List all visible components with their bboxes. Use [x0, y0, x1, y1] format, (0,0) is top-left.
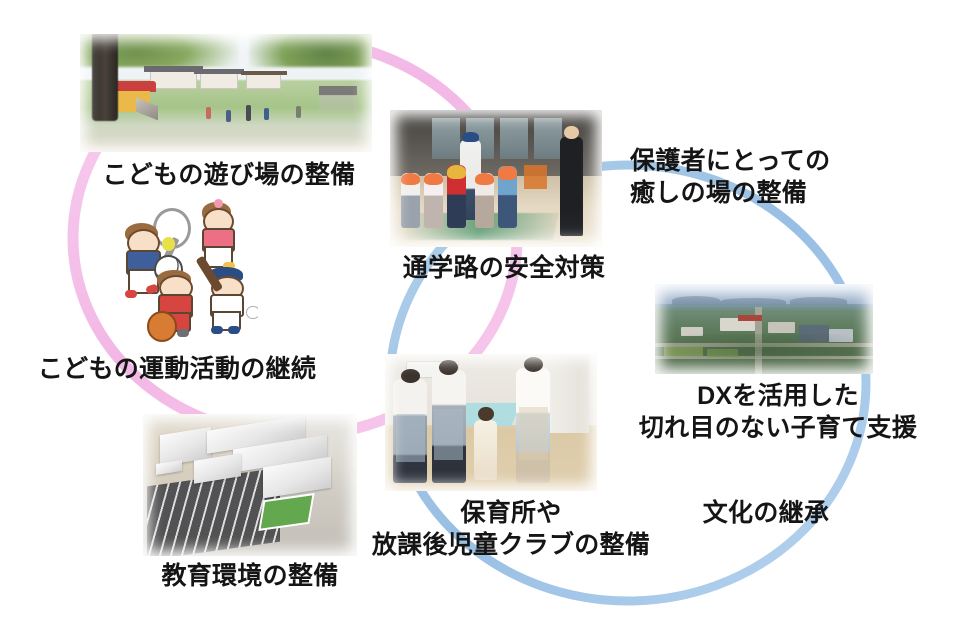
caption-playground: こどもの遊び場の整備	[84, 159, 374, 191]
caption-caregiver-healing: 保護者にとっての 癒しの場の整備	[630, 145, 870, 209]
school-building-photo	[143, 414, 357, 556]
caption-education-env: 教育環境の整備	[152, 560, 348, 592]
playground-photo	[80, 34, 372, 152]
sports-kids-illustration	[112, 196, 258, 344]
school-route-photo	[390, 110, 602, 247]
nursery-photo	[385, 354, 597, 491]
aerial-town-photo	[655, 284, 873, 374]
caption-nursery-club: 保育所や 放課後児童クラブの整備	[358, 497, 664, 561]
caption-culture: 文化の継承	[692, 497, 840, 529]
caption-sports-activity: こどもの運動活動の継続	[22, 353, 332, 385]
caption-dx-support: DXを活用した 切れ目のない子育て支援	[628, 380, 928, 444]
concept-diagram-canvas: こどもの遊び場の整備 通学路の安全対策 保護	[0, 0, 960, 640]
caption-school-route: 通学路の安全対策	[388, 252, 620, 284]
